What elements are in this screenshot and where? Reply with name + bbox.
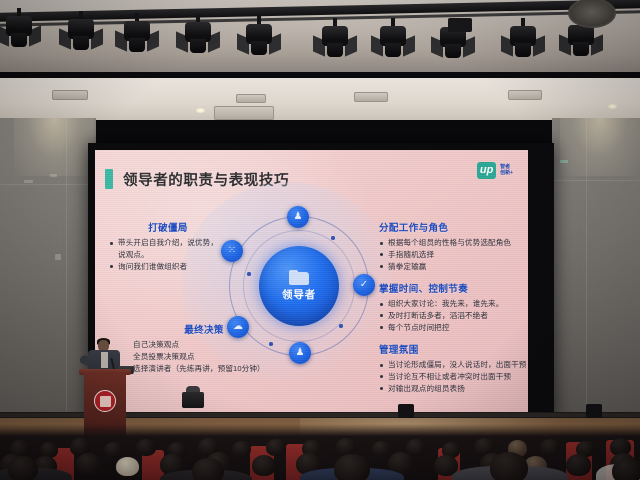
folder-icon (289, 270, 309, 285)
right-column-block-2: 掌握时间、控制节奏 组织大家讨论：我先来，谁先来。 及时打断话多者，滔滔不绝者 … (379, 281, 528, 333)
audience-head (136, 439, 156, 456)
speaker-shirt (101, 352, 108, 368)
bullet-item: 当讨论形成僵局，没人说话时，出面干预 (379, 359, 528, 371)
audience-head (232, 441, 251, 457)
diagram-center-node: 领导者 (259, 246, 339, 326)
audience-head (252, 455, 276, 476)
wall-seam (552, 180, 640, 181)
bullet-item: 每个节点时间把控 (379, 322, 528, 334)
bullet-item-continued: 说观点。 (109, 249, 227, 261)
stage-light (322, 24, 348, 58)
stage-light (246, 22, 272, 56)
node-person-badge-icon: ♟ (287, 206, 309, 228)
wall-seam (586, 118, 587, 436)
audience-head (372, 441, 391, 457)
block-heading: 最终决策 (133, 322, 275, 336)
block-heading: 打破僵局 (109, 220, 227, 234)
audience-head-front (334, 454, 370, 480)
bullet-item: 手指随机选择 (379, 249, 528, 261)
ceiling-downlight (608, 104, 617, 109)
stage-light (568, 23, 594, 57)
audience-head-front (8, 456, 38, 480)
auditorium-photo: 领导者的职责与表现技巧 up 智者 创新+ 领导者 ♟ ✓ ♟ ☁ (0, 0, 640, 480)
ceiling (0, 0, 640, 72)
stage-light (380, 24, 406, 58)
stage-monitor (182, 392, 204, 408)
ceiling-projector (448, 18, 472, 32)
right-column-block-1: 分配工作与角色 根据每个组员的性格与优势选配角色 手指随机选择 猜拳定输赢 (379, 220, 528, 272)
orbit-dot (339, 324, 343, 328)
block-heading: 掌握时间、控制节奏 (379, 281, 528, 295)
bullet-item-continued: 全员投票决策观点 (103, 351, 275, 363)
title-accent-bar (105, 169, 113, 189)
bullet-item: 猜拳定输赢 (379, 261, 528, 273)
audience: WUHAN (0, 424, 640, 480)
bullet-item: 当讨论互不相让或者冲突时出面干预 (379, 371, 528, 383)
up-logo-mark: up (477, 162, 496, 179)
bullet-item: 根据每个组员的性格与优势选配角色 (379, 237, 528, 249)
audience-head (76, 453, 101, 475)
audience-head-front (490, 452, 528, 480)
logo-chinese-text: 智者 创新+ (500, 165, 513, 177)
bullet-item: 带头开启自我介绍，说优势， (109, 237, 227, 249)
left-wall (0, 118, 96, 436)
bullet-item: 及时打断话多者，滔滔不绝者 (379, 310, 528, 322)
audience-head (540, 439, 560, 456)
stage-speaker-box (398, 404, 414, 418)
brand-logo: up 智者 创新+ (477, 162, 513, 179)
audience-head-front (192, 458, 224, 480)
bullet-item: 组织大家讨论：我先来，谁先来。 (379, 298, 528, 310)
wall-wash-light (14, 118, 94, 176)
wall-reflection (24, 180, 33, 183)
stage-speaker-box (586, 404, 602, 418)
wall-seam (66, 118, 67, 436)
ceiling-vent (52, 90, 88, 100)
wall-reflection (560, 160, 568, 163)
stage-light (68, 17, 94, 51)
ceiling-vent (236, 94, 266, 103)
orbit-dot (247, 272, 251, 276)
presentation-slide: 领导者的职责与表现技巧 up 智者 创新+ 领导者 ♟ ✓ ♟ ☁ (95, 150, 528, 412)
wall-wash-light (560, 118, 640, 176)
stage-light (510, 24, 536, 58)
bullet-item: 询问我们谁做组织者 (109, 261, 227, 273)
left-column-block-1: 打破僵局 带头开启自我介绍，说优势， 说观点。 询问我们谁做组织者 (109, 220, 227, 272)
right-wall (552, 118, 640, 436)
audience-head-with-cap (116, 457, 139, 476)
ceiling-panels (0, 78, 640, 120)
ceiling-fan-vent (568, 0, 616, 28)
wall-seam (0, 184, 96, 185)
wall-reflection (55, 254, 61, 260)
stage-light (6, 14, 32, 48)
stage-light (124, 19, 150, 53)
audience-head (104, 442, 123, 458)
bullet-item: 对输出观点的组员表扬 (379, 383, 528, 395)
wall-reflection (50, 174, 57, 177)
audience-head (566, 454, 591, 476)
emblem-inner-mark (100, 396, 111, 407)
ceiling-vent (354, 92, 388, 102)
ceiling-vent (508, 90, 542, 100)
ceiling-air-grille (214, 106, 274, 120)
stage-light (185, 20, 211, 54)
node-group-people-icon: ♟ (289, 342, 311, 364)
audience-head-front (612, 458, 640, 480)
right-column-block-3: 管理氛围 当讨论形成僵局，没人说话时，出面干预 当讨论互不相让或者冲突时出面干预… (379, 342, 528, 394)
ceiling-downlight (196, 108, 205, 113)
block-heading: 分配工作与角色 (379, 220, 528, 234)
orbit-dot (331, 236, 335, 240)
logo-line-2: 创新+ (500, 171, 513, 177)
audience-head (266, 439, 286, 456)
bullet-item: 自己决策观点 (103, 339, 275, 351)
diagram-center-label: 领导者 (282, 287, 316, 302)
node-chart-check-icon: ✓ (353, 274, 375, 296)
block-heading: 管理氛围 (379, 342, 528, 356)
institution-emblem (94, 390, 116, 412)
